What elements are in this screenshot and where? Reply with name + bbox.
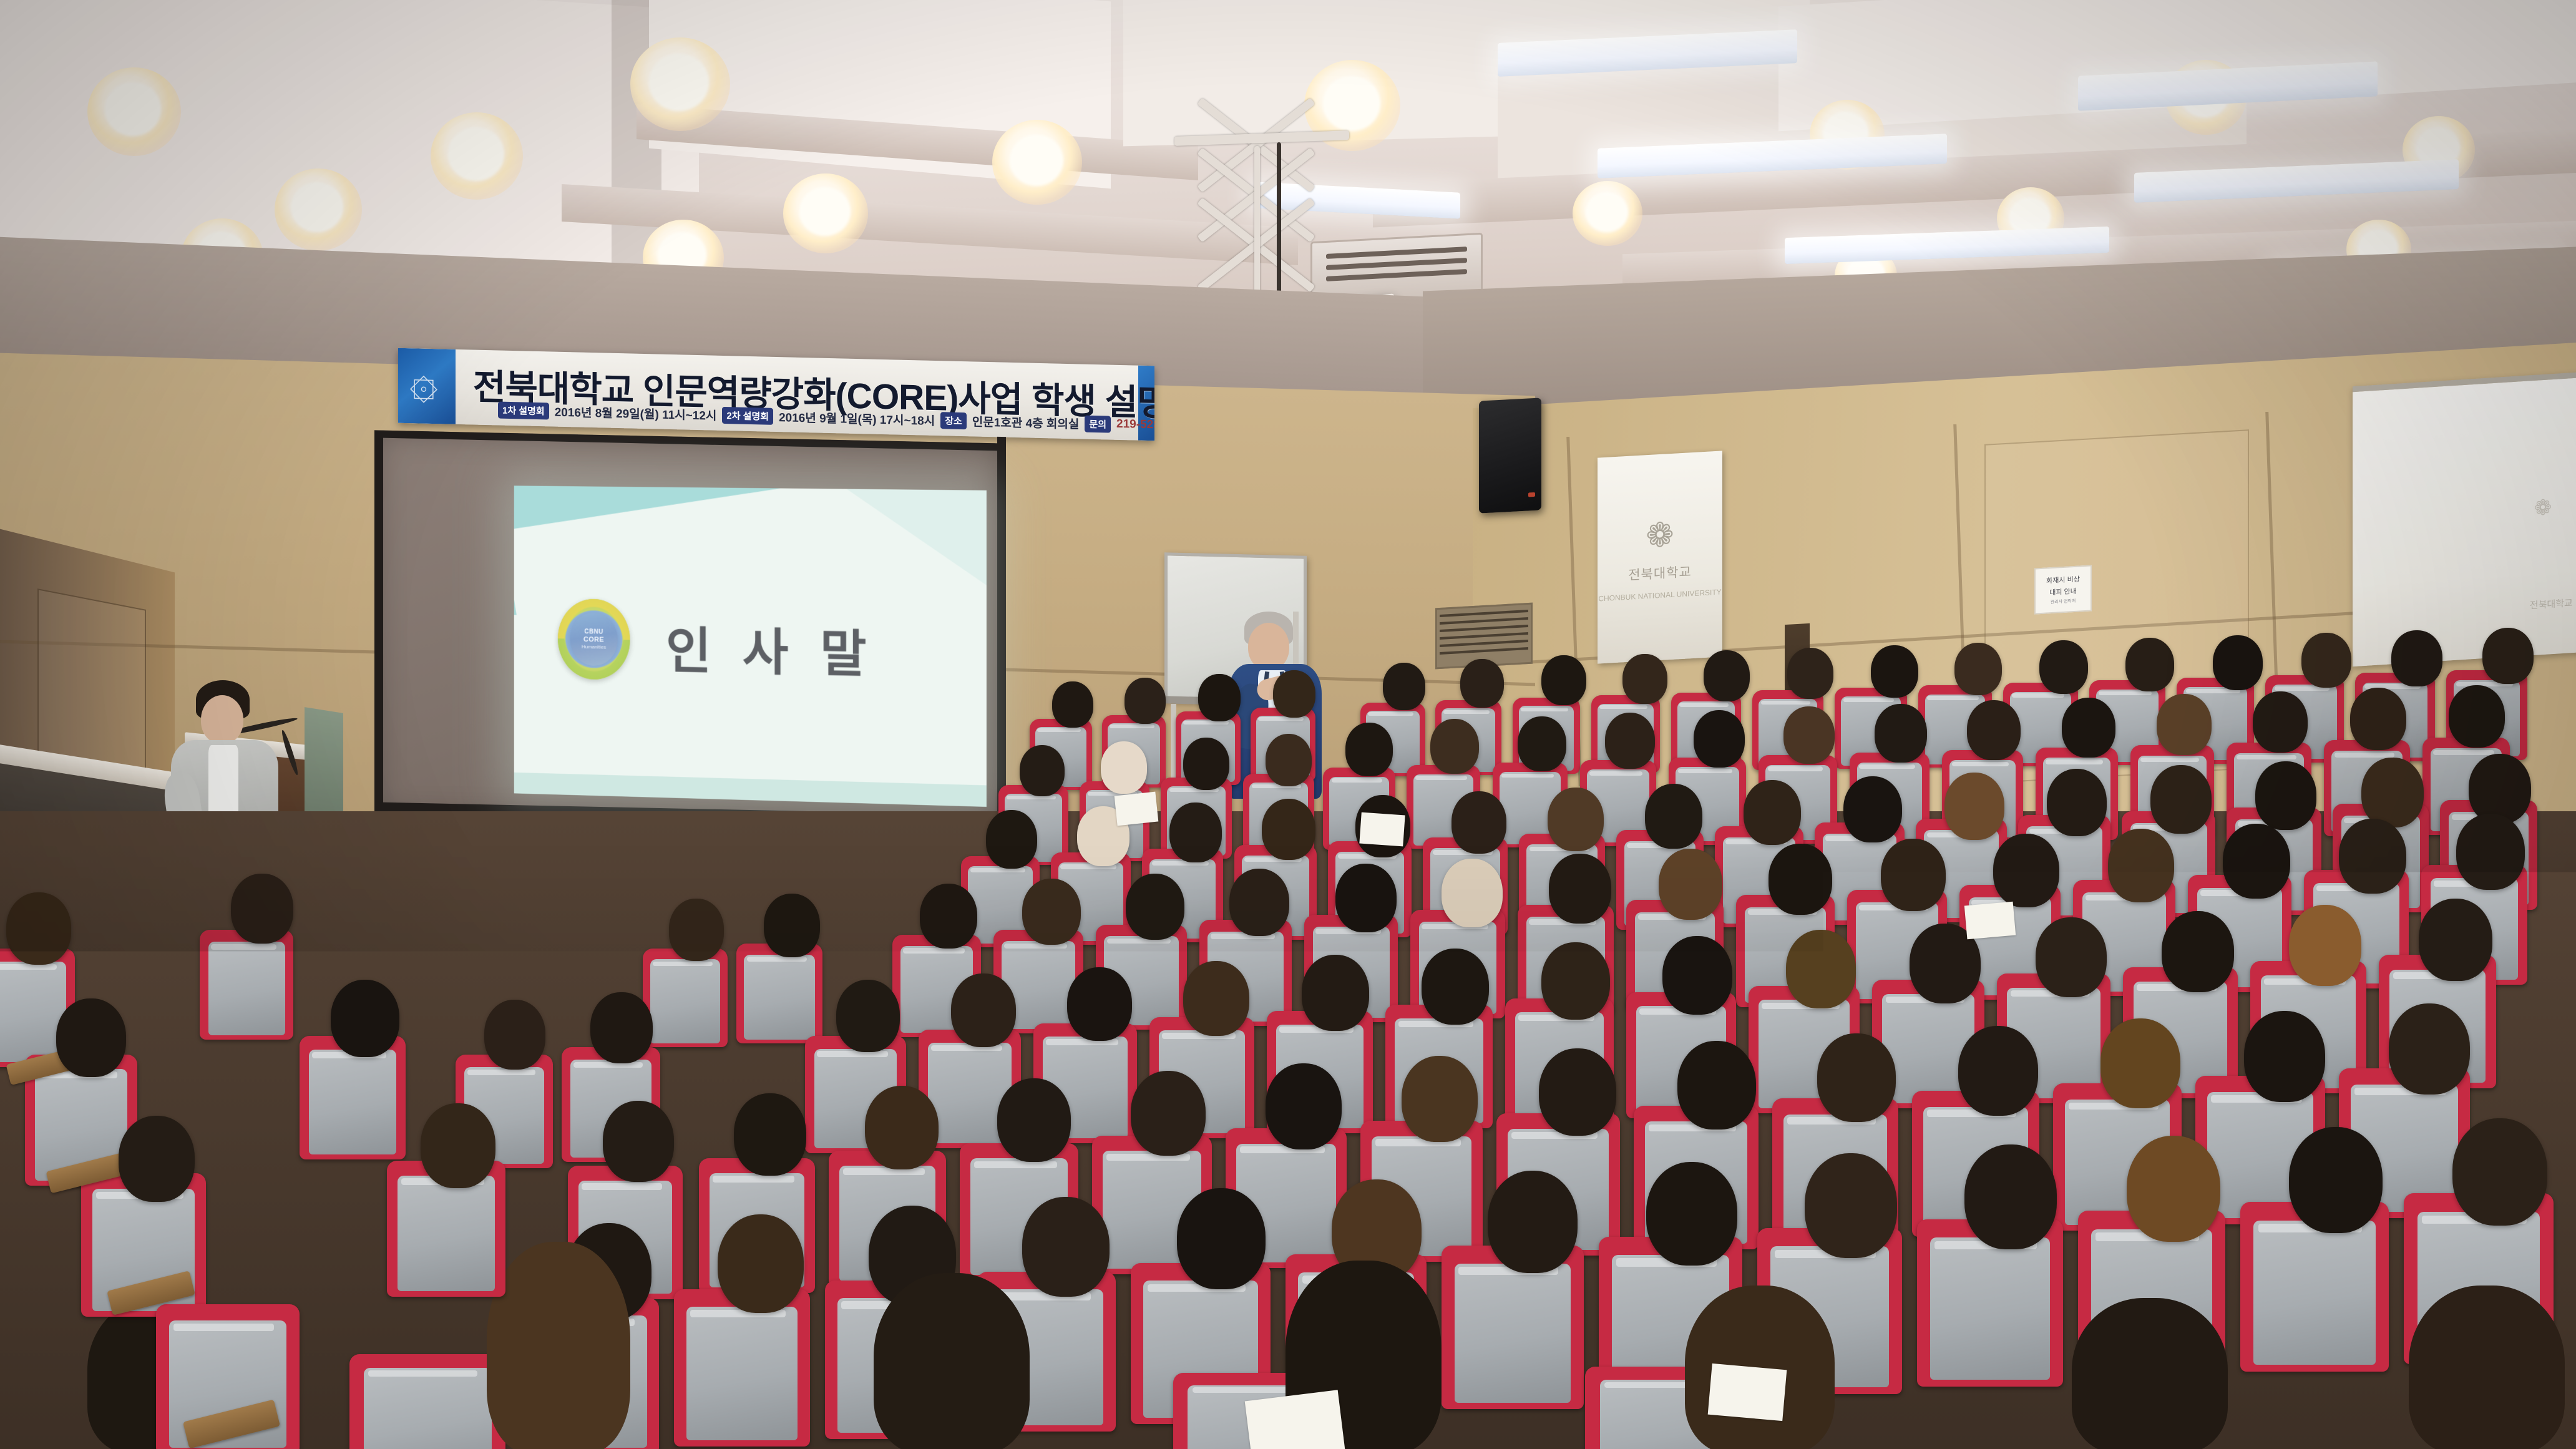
audience-head <box>2289 1127 2383 1233</box>
handout-paper <box>1115 792 1159 826</box>
audience-head <box>2301 633 2351 688</box>
presenter-head <box>1248 623 1289 670</box>
audience-head <box>1101 741 1147 794</box>
audience-head <box>484 1000 545 1070</box>
audience-head <box>2223 824 2290 899</box>
projected-slide: CBNU CORE Humanities 인 사 말 <box>514 485 987 807</box>
audience-head <box>1944 773 2004 840</box>
audience-head <box>2456 814 2525 890</box>
audience-head <box>1131 1071 1206 1156</box>
vertical-hanging-banner: ❁ 전북대학교 CHONBUK NATIONAL UNIVERSITY <box>1598 451 1722 663</box>
audience-head <box>1786 930 1856 1008</box>
side-screen-title: 전북대학교 <box>2530 596 2573 612</box>
handout-paper <box>1964 902 2016 940</box>
core-program-logo: CBNU CORE Humanities <box>558 598 630 680</box>
audience-long-hair <box>2072 1298 2228 1449</box>
downlight <box>630 37 730 131</box>
audience-head <box>6 892 71 965</box>
downlight <box>992 120 1082 205</box>
audience-head <box>2036 917 2107 997</box>
audience-head <box>2244 1011 2325 1102</box>
audience-head <box>2482 628 2534 684</box>
audience-head <box>1769 844 1832 915</box>
audience-head <box>603 1101 674 1182</box>
audience-head <box>1067 967 1132 1041</box>
audience-head <box>119 1116 195 1202</box>
audience-head <box>1958 1026 2038 1116</box>
audience-head <box>1622 654 1667 704</box>
audience-head <box>764 894 820 957</box>
audience-head <box>2108 829 2174 902</box>
audience-head <box>331 980 399 1057</box>
downlight <box>275 168 362 251</box>
audience-head <box>1548 788 1604 851</box>
podium-side-panel <box>305 707 343 826</box>
audience-long-hair <box>2409 1286 2565 1449</box>
audience-head <box>2162 911 2234 992</box>
audience-head <box>590 992 653 1063</box>
audience-head <box>1451 791 1506 854</box>
audience-head <box>1964 1144 2057 1249</box>
audience-head <box>2125 638 2174 691</box>
audience-head <box>2213 635 2263 690</box>
audience-head <box>1052 681 1093 728</box>
audience-head <box>1229 869 1289 936</box>
audience-head <box>865 1086 939 1169</box>
session1-tag: 1차 설명회 <box>498 401 549 419</box>
contact-tag: 문의 <box>1085 415 1111 432</box>
audience-head <box>734 1093 806 1176</box>
audience-head <box>56 998 126 1077</box>
audience-head <box>1787 648 1833 699</box>
slide-title: 인 사 말 <box>666 610 876 687</box>
venue-text: 인문1호관 4층 회의실 <box>972 412 1080 432</box>
audience-head <box>1266 734 1312 786</box>
seat[interactable] <box>736 944 822 1043</box>
audience-head <box>2062 698 2115 758</box>
audience-head <box>1020 745 1065 796</box>
audience-head <box>1541 655 1586 705</box>
audience-head <box>2127 1136 2220 1242</box>
audience-head <box>986 810 1037 869</box>
notice-sub: 관리자 연락처 <box>2051 598 2076 605</box>
audience-head <box>1871 645 1918 698</box>
university-crest-icon: ❁ <box>1646 514 1674 555</box>
audience-head <box>1646 1162 1737 1266</box>
wall-speaker <box>1479 398 1541 513</box>
audience-head <box>920 884 977 949</box>
audience-head <box>1875 704 1927 763</box>
session2-text: 2016년 9월 1일(목) 17시~18시 <box>779 408 935 429</box>
audience-head <box>1539 1048 1616 1136</box>
audience-head <box>1518 716 1566 771</box>
audience-head <box>1704 650 1750 701</box>
seat[interactable] <box>200 930 293 1040</box>
audience-head <box>1843 776 1902 842</box>
audience-head <box>1541 942 1610 1020</box>
audience-long-hair <box>874 1273 1030 1449</box>
audience-head <box>2047 769 2107 836</box>
core-logo-sub-text: Humanities <box>582 644 606 650</box>
audience-head <box>1817 1033 1896 1122</box>
audience-long-hair <box>487 1242 630 1449</box>
audience-head <box>669 899 724 961</box>
audience-head <box>1126 874 1184 940</box>
core-logo-mid-text: CORE <box>583 636 604 644</box>
audience-head <box>1302 955 1369 1031</box>
audience-head <box>1422 949 1489 1025</box>
audience-head <box>1177 1188 1266 1289</box>
audience-head <box>1881 839 1946 911</box>
audience-head <box>2255 761 2316 830</box>
audience-head <box>2039 640 2088 694</box>
audience-head <box>1645 784 1702 849</box>
side-projection-screen: ❁ 전북대학교 <box>2353 370 2576 666</box>
audience-head <box>2253 691 2308 753</box>
handout-paper <box>1359 812 1405 847</box>
audience-head <box>2361 758 2424 827</box>
audience-head <box>2391 630 2442 686</box>
screen-right-edge <box>997 437 1006 824</box>
core-logo-top-text: CBNU <box>584 628 603 635</box>
audience-head <box>1993 834 2059 907</box>
audience-head <box>2339 819 2406 894</box>
audience-head <box>2100 1018 2180 1108</box>
phoenix-emblem-icon: ۞ <box>401 356 447 417</box>
notice-line-1: 화재시 비상 <box>2046 574 2080 586</box>
audience-head <box>2289 905 2361 986</box>
seat[interactable] <box>349 1354 505 1449</box>
audience-head <box>2150 765 2212 834</box>
university-emblem: ۞ <box>398 348 456 424</box>
handout-paper <box>1708 1364 1787 1421</box>
audience-head <box>1383 663 1425 710</box>
audience-head <box>1402 1056 1478 1142</box>
audience-head <box>1022 1197 1110 1297</box>
downlight <box>783 173 868 253</box>
side-screen-crest-icon: ❁ <box>2534 495 2552 521</box>
audience-head <box>2419 899 2492 981</box>
audience-head <box>1442 859 1503 927</box>
audience-head <box>1198 674 1241 721</box>
audience-head <box>2452 1118 2547 1226</box>
auditorium-photo: ۞ 전북대학교 인문역량강화(CORE)사업 학생 설명회 1차 설명회 201… <box>0 0 2576 1449</box>
screen-left-edge <box>374 437 383 824</box>
audience-head <box>997 1078 1071 1162</box>
handout-paper <box>660 1010 713 1050</box>
audience-head <box>1262 799 1315 860</box>
audience-head <box>1659 849 1722 920</box>
audience-head <box>1662 936 1732 1015</box>
seat[interactable] <box>674 1289 810 1447</box>
vertical-banner-title: 전북대학교 <box>1628 562 1692 584</box>
audience-head <box>2157 694 2212 755</box>
contact-text: 219-5288/5289 <box>1116 417 1154 433</box>
session1-text: 2016년 8월 29일(월) 11시~12시 <box>555 402 717 423</box>
session2-tag: 2차 설명회 <box>722 406 773 424</box>
audience-head <box>1169 803 1222 862</box>
audience-head <box>1549 854 1611 924</box>
downlight <box>87 67 181 156</box>
audience-head <box>1677 1041 1756 1129</box>
audience-head <box>1125 678 1166 724</box>
audience-head <box>1954 643 2002 695</box>
audience-head <box>1694 710 1745 768</box>
downlight <box>431 112 523 200</box>
audience-head <box>1744 780 1801 845</box>
moderator-head <box>201 695 243 744</box>
audience-head <box>1460 659 1504 708</box>
audience-head <box>951 973 1016 1047</box>
audience-head <box>1967 700 2021 760</box>
audience-head <box>1345 723 1393 776</box>
audience-head <box>836 980 900 1052</box>
speaker-led-indicator <box>1528 492 1535 497</box>
audience-head <box>1335 864 1397 932</box>
notice-line-2: 대피 안내 <box>2049 586 2077 597</box>
audience-head <box>231 874 293 944</box>
audience-head <box>421 1103 495 1188</box>
audience-head <box>1605 713 1655 769</box>
audience-head <box>1488 1171 1578 1273</box>
audience-head <box>2449 685 2505 748</box>
audience-head <box>1273 670 1315 718</box>
handout-paper <box>1245 1390 1345 1449</box>
audience-head <box>2389 1003 2470 1095</box>
audience-head <box>2469 754 2531 824</box>
audience-head <box>1805 1153 1897 1258</box>
audience-head <box>2350 688 2406 750</box>
core-logo-inner: CBNU CORE Humanities <box>570 612 617 666</box>
downlight <box>1573 181 1642 246</box>
audience-head <box>1430 719 1479 774</box>
audience-head <box>1183 961 1249 1036</box>
audience-head <box>718 1214 804 1313</box>
audience-head <box>1022 879 1081 945</box>
vertical-banner-subtitle: CHONBUK NATIONAL UNIVERSITY <box>1598 587 1721 603</box>
emergency-notice-sign: 화재시 비상 대피 안내 관리자 연락처 <box>2034 565 2092 614</box>
audience-head <box>1266 1063 1342 1149</box>
audience-head <box>1783 706 1835 764</box>
venue-tag: 장소 <box>940 412 967 429</box>
audience-head <box>1183 738 1229 790</box>
